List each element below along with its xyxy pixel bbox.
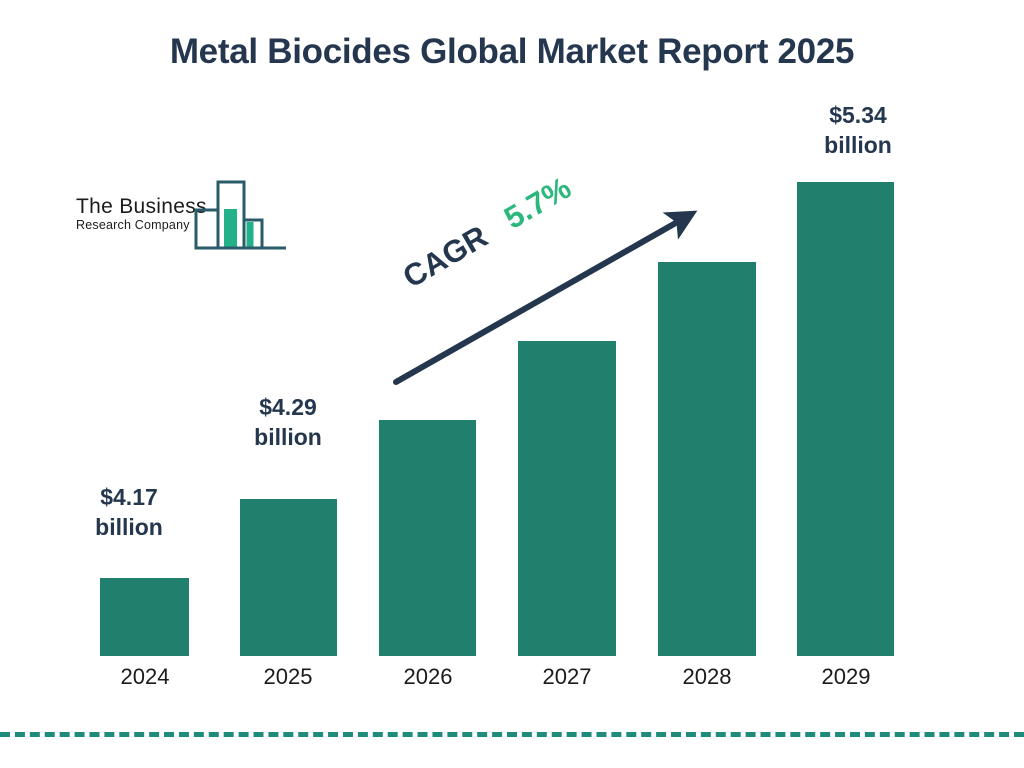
- bar-value-amount: $4.29: [178, 392, 398, 422]
- bar-value-unit: billion: [178, 422, 398, 452]
- bar-2028: [658, 262, 756, 656]
- bar-value-label-2029: $5.34billion: [748, 100, 968, 161]
- bar-2029: [797, 182, 894, 656]
- x-tick-label-2024: 2024: [75, 664, 215, 690]
- bar-value-label-2025: $4.29billion: [178, 392, 398, 453]
- bar-value-amount: $5.34: [748, 100, 968, 130]
- bar-chart-plot-area: $4.17billion$4.29billion$5.34billion2024…: [0, 0, 1024, 768]
- bar-2027: [518, 341, 616, 656]
- bar-2026: [379, 420, 476, 656]
- x-tick-label-2025: 2025: [218, 664, 358, 690]
- x-tick-label-2028: 2028: [637, 664, 777, 690]
- bar-value-unit: billion: [19, 512, 239, 542]
- footer-divider: [0, 732, 1024, 737]
- bar-value-amount: $4.17: [19, 482, 239, 512]
- bar-value-label-2024: $4.17billion: [19, 482, 239, 543]
- chart-canvas: Metal Biocides Global Market Report 2025…: [0, 0, 1024, 768]
- x-tick-label-2026: 2026: [358, 664, 498, 690]
- x-tick-label-2029: 2029: [776, 664, 916, 690]
- x-tick-label-2027: 2027: [497, 664, 637, 690]
- bar-value-unit: billion: [748, 130, 968, 160]
- bar-2025: [240, 499, 337, 656]
- bar-2024: [100, 578, 189, 656]
